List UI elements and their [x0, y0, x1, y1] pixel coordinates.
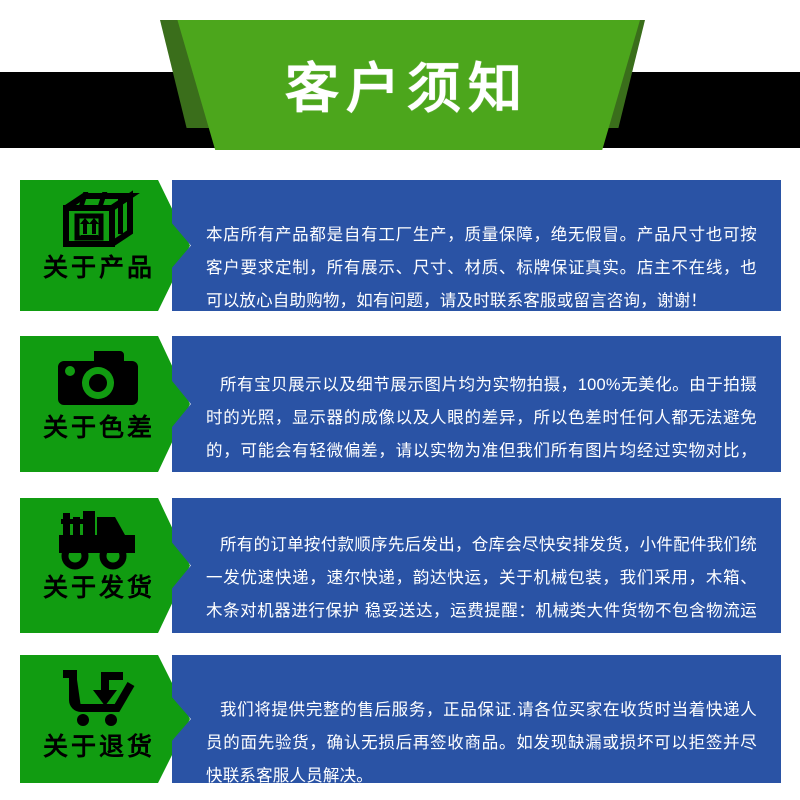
section-label: 关于退货: [43, 735, 155, 760]
section-text-panel: 我们将提供完整的售后服务，正品保证.请各位买家在收货时当着快递人员的面先验货，确…: [172, 655, 781, 783]
section-icon-tile: 关于产品: [20, 180, 190, 311]
section-label: 关于发货: [43, 576, 155, 601]
section-text-panel: 所有的订单按付款顺序先后发出，仓库会尽快安排发货，小件配件我们统一发优速快递，速…: [172, 498, 781, 633]
section-text-panel: 所有宝贝展示以及细节展示图片均为实物拍摄，100%无美化。由于拍摄时的光照，显示…: [172, 336, 781, 472]
notice-section-shipping: 关于发货 所有的订单按付款顺序先后发出，仓库会尽快安排发货，小件配件我们统一发优…: [0, 498, 800, 633]
section-icon-tile: 关于色差: [20, 336, 190, 472]
page-header: 客户须知: [0, 0, 800, 152]
section-text-panel: 本店所有产品都是自有工厂生产，质量保障，绝无假冒。产品尺寸也可按客户要求定制，所…: [172, 180, 781, 311]
section-label: 关于产品: [43, 256, 155, 281]
notice-section-return: 关于退货 我们将提供完整的售后服务，正品保证.请各位买家在收货时当着快递人员的面…: [0, 655, 800, 783]
camera-icon: [52, 346, 144, 412]
header-ribbon: 客户须知: [168, 20, 640, 150]
notice-section-product: 关于产品 本店所有产品都是自有工厂生产，质量保障，绝无假冒。产品尺寸也可按客户要…: [0, 180, 800, 311]
package-box-icon: [52, 190, 144, 252]
section-body-text: 所有宝贝展示以及细节展示图片均为实物拍摄，100%无美化。由于拍摄时的光照，显示…: [206, 369, 757, 501]
section-icon-tile: 关于退货: [20, 655, 190, 783]
customer-notice-page: 客户须知: [0, 0, 800, 800]
notice-section-color: 关于色差 所有宝贝展示以及细节展示图片均为实物拍摄，100%无美化。由于拍摄时的…: [0, 336, 800, 472]
page-title: 客户须知: [279, 54, 529, 116]
section-body-text: 所有的订单按付款顺序先后发出，仓库会尽快安排发货，小件配件我们统一发优速快递，速…: [206, 529, 757, 661]
forklift-truck-icon: [52, 508, 144, 572]
section-body-text: 我们将提供完整的售后服务，正品保证.请各位买家在收货时当着快递人员的面先验货，确…: [206, 694, 757, 793]
section-label: 关于色差: [43, 416, 155, 441]
section-icon-tile: 关于发货: [20, 498, 190, 633]
section-body-text: 本店所有产品都是自有工厂生产，质量保障，绝无假冒。产品尺寸也可按客户要求定制，所…: [206, 219, 757, 318]
return-cart-icon: [52, 665, 144, 731]
